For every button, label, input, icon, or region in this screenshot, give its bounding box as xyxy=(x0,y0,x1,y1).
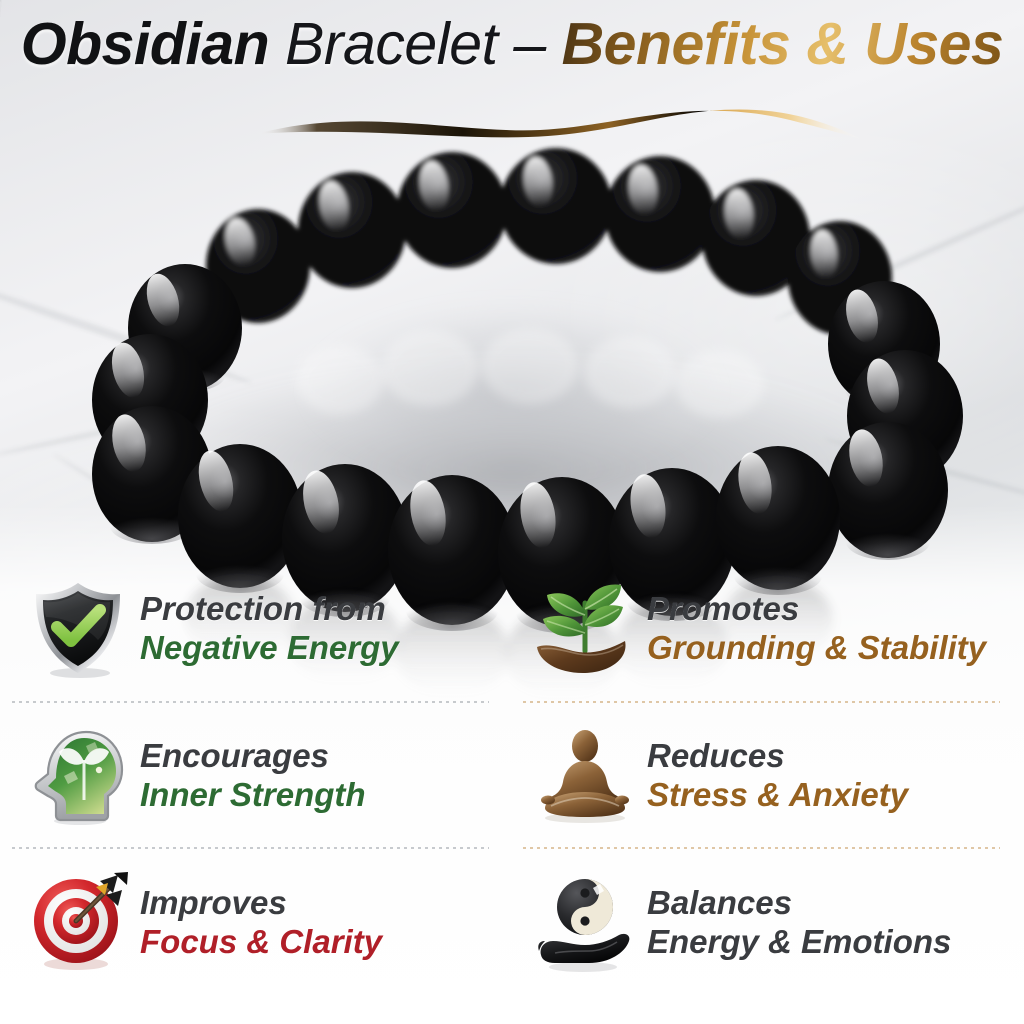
benefit-line2: Stress & Anxiety xyxy=(647,776,908,815)
benefit-line2: Grounding & Stability xyxy=(647,629,986,668)
yin-yang-hand-icon xyxy=(533,871,637,975)
bracelet-illustration xyxy=(0,118,1024,548)
gold-swoosh-divider xyxy=(0,100,1024,146)
benefit-text: Promotes Grounding & Stability xyxy=(647,590,986,668)
benefit-item-balance[interactable]: Balances Energy & Emotions xyxy=(517,849,1024,996)
page-title: Obsidian Bracelet – Benefits & Uses xyxy=(0,14,1024,74)
benefit-item-stress[interactable]: Reduces Stress & Anxiety xyxy=(517,703,1024,850)
benefit-item-inner-strength[interactable]: Encourages Inner Strength xyxy=(0,703,507,850)
benefit-line1: Promotes xyxy=(647,590,986,629)
title-word-secondary: Bracelet – xyxy=(285,11,546,77)
head-plant-mind-icon xyxy=(26,724,130,828)
title-word-primary: Obsidian xyxy=(21,11,269,77)
benefit-item-protection[interactable]: Protection from Negative Energy xyxy=(0,556,507,703)
target-arrow-icon xyxy=(26,871,130,975)
benefit-item-grounding[interactable]: Promotes Grounding & Stability xyxy=(517,556,1024,703)
benefits-grid: Protection from Negative Energy xyxy=(0,556,1024,996)
poster-header: Obsidian Bracelet – Benefits & Uses xyxy=(0,14,1024,134)
benefit-text: Improves Focus & Clarity xyxy=(140,884,382,962)
benefit-line1: Reduces xyxy=(647,737,908,776)
infographic-poster: Obsidian Bracelet – Benefits & Uses xyxy=(0,0,1024,1024)
shield-check-icon xyxy=(26,577,130,681)
bracelet-photo xyxy=(0,118,1024,548)
meditating-person-icon xyxy=(533,724,637,828)
title-word-accent: Benefits & Uses xyxy=(562,11,1004,77)
benefit-line1: Encourages xyxy=(140,737,366,776)
benefit-line2: Inner Strength xyxy=(140,776,366,815)
benefit-line2: Energy & Emotions xyxy=(647,923,951,962)
benefit-text: Encourages Inner Strength xyxy=(140,737,366,815)
benefit-line1: Protection from xyxy=(140,590,399,629)
swoosh-icon xyxy=(0,100,1024,146)
sprout-soil-icon xyxy=(533,577,637,681)
benefit-text: Reduces Stress & Anxiety xyxy=(647,737,908,815)
benefit-line1: Balances xyxy=(647,884,951,923)
benefit-line2: Negative Energy xyxy=(140,629,399,668)
benefit-line2: Focus & Clarity xyxy=(140,923,382,962)
benefit-line1: Improves xyxy=(140,884,382,923)
benefit-item-focus[interactable]: Improves Focus & Clarity xyxy=(0,849,507,996)
benefit-text: Protection from Negative Energy xyxy=(140,590,399,668)
benefit-text: Balances Energy & Emotions xyxy=(647,884,951,962)
